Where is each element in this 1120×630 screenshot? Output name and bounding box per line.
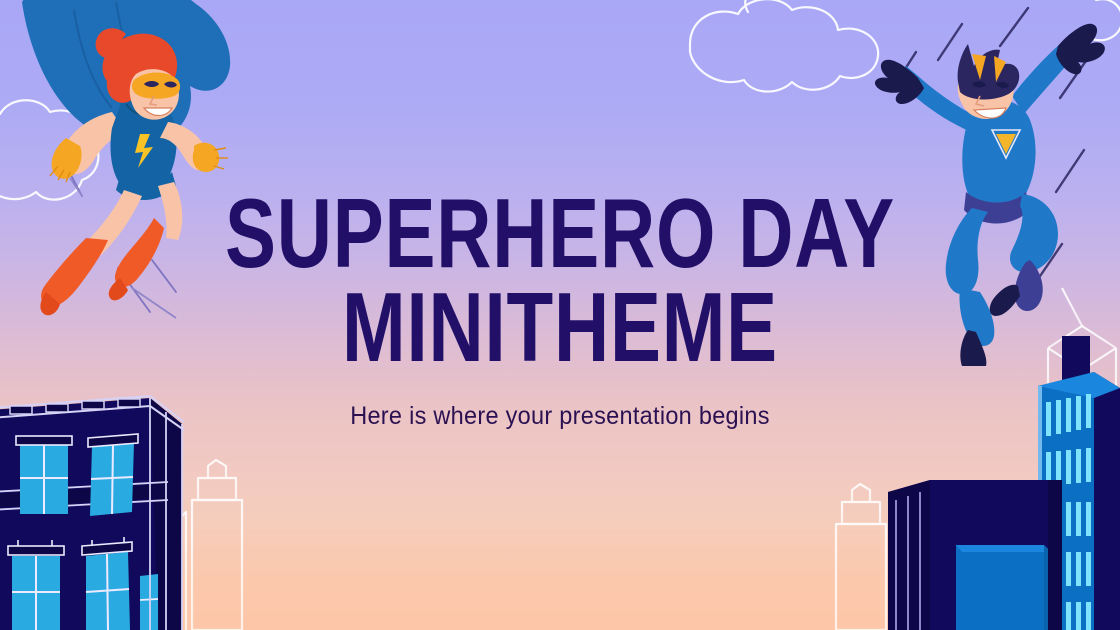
window (82, 537, 132, 630)
speed-line-3 (1056, 150, 1084, 192)
hero-glove-right (1056, 24, 1105, 75)
building-right-blue-block (956, 545, 1052, 630)
slide-subtitle: Here is where your presentation begins (34, 402, 1087, 431)
window (16, 436, 72, 514)
window (8, 540, 64, 630)
speed-line-1 (1000, 8, 1028, 46)
hero-mask (958, 44, 1020, 99)
blue-block-top-slant (956, 545, 1050, 552)
window (88, 434, 138, 516)
cloud-top-right-icon (690, 0, 878, 92)
speed-line-5 (938, 24, 962, 60)
building-center-outline-tower (836, 484, 886, 630)
heroine-glove-front (193, 143, 220, 172)
window-sliver (140, 574, 158, 630)
building-right-sliver (1048, 480, 1062, 630)
slide-title-line-2: MINITHEME (123, 282, 997, 372)
blue-block-body (956, 545, 1044, 630)
building-left-outline-tower (192, 460, 242, 630)
presentation-slide: SUPERHERO DAY MINITHEME Here is where yo… (0, 0, 1120, 630)
slide-title-line-1: SUPERHERO DAY (123, 188, 997, 278)
title-text-block: SUPERHERO DAY MINITHEME Here is where yo… (0, 188, 1120, 431)
